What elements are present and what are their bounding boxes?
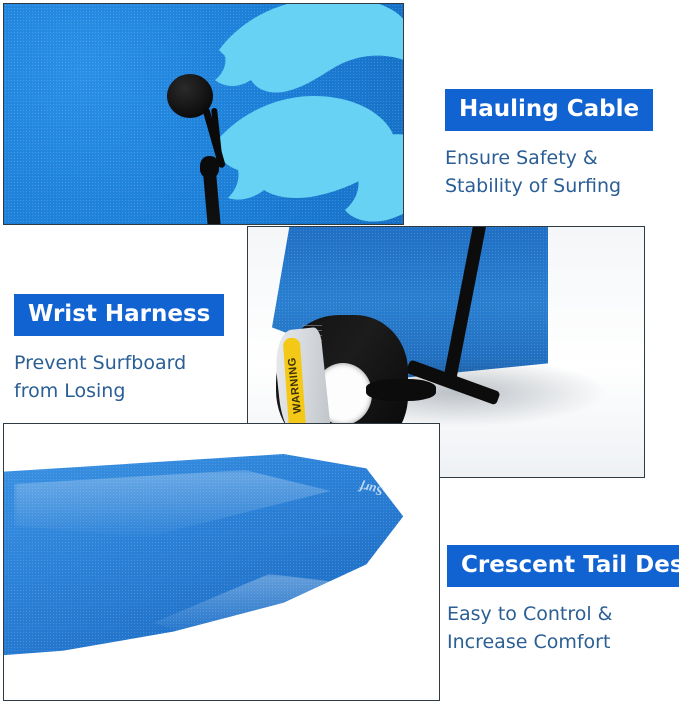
feature-badge-hauling-cable: Hauling Cable (445, 89, 653, 131)
infographic-canvas: WARNING Surf Hauling Cable Ensure Safety… (0, 0, 679, 704)
caption-line: Stability of Surfing (445, 173, 653, 201)
feature-wrist-harness: Wrist Harness Prevent Surfboard from Los… (14, 294, 224, 405)
caption-line: Easy to Control & (447, 601, 679, 629)
feature-badge-crescent-tail: Crescent Tail Design (447, 545, 679, 587)
caption-line: Prevent Surfboard (14, 350, 224, 378)
photo-panel-hauling-cable (3, 3, 404, 225)
feature-crescent-tail: Crescent Tail Design Easy to Control & I… (447, 545, 679, 656)
caption-line: from Losing (14, 378, 224, 406)
caption-line: Ensure Safety & (445, 145, 653, 173)
feature-hauling-cable: Hauling Cable Ensure Safety & Stability … (445, 89, 653, 200)
feature-caption-wrist-harness: Prevent Surfboard from Losing (14, 350, 224, 405)
warning-label-text: WARNING (282, 339, 308, 432)
feature-caption-crescent-tail: Easy to Control & Increase Comfort (447, 601, 679, 656)
feature-badge-wrist-harness: Wrist Harness (14, 294, 224, 336)
photo-panel-crescent-tail: Surf (3, 423, 440, 701)
feature-caption-hauling-cable: Ensure Safety & Stability of Surfing (445, 145, 653, 200)
caption-line: Increase Comfort (447, 629, 679, 657)
shark-graphic-icon (323, 124, 404, 225)
harness-strap-buckle (366, 379, 436, 401)
